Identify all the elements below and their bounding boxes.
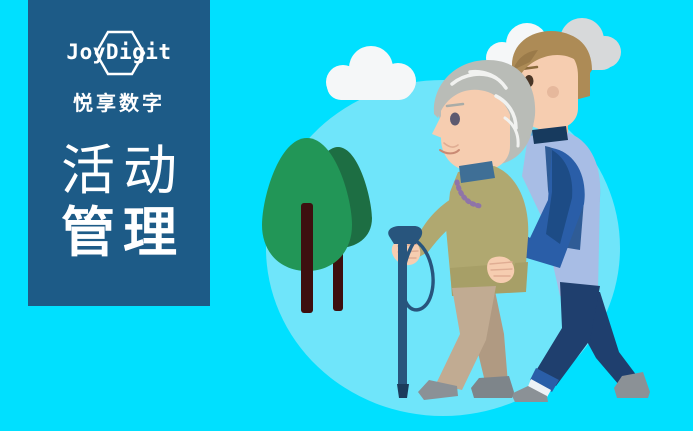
logo-mark: JoyDigit xyxy=(53,30,185,76)
page-title-line-1: 活动 xyxy=(28,140,210,202)
page-title: 活动 管理 xyxy=(28,140,210,264)
page-title-line-2: 管理 xyxy=(28,202,210,264)
brand-logo: JoyDigit 悦享数字 xyxy=(28,30,210,115)
company-name-cn: 悦享数字 xyxy=(28,91,210,115)
logo-wordmark: JoyDigit xyxy=(53,40,185,64)
title-panel: JoyDigit 悦享数字 活动 管理 xyxy=(28,0,210,306)
poster-canvas: JoyDigit 悦享数字 活动 管理 xyxy=(0,0,693,431)
cloud-left xyxy=(326,46,416,100)
